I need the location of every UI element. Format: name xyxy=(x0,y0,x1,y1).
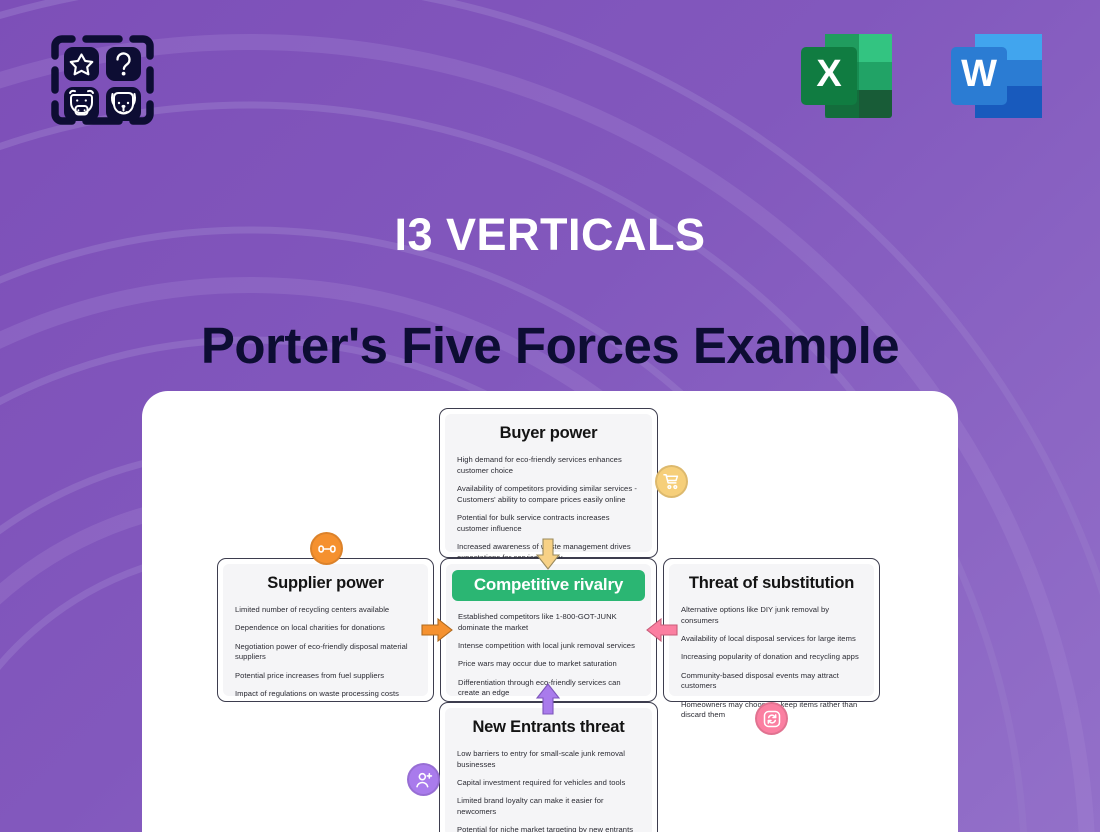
force-items-supplier: Limited number of recycling centers avai… xyxy=(235,605,416,700)
force-title-supplier: Supplier power xyxy=(235,574,416,593)
handshake-badge[interactable] xyxy=(310,532,343,565)
force-box-supplier-power[interactable]: Supplier power Limited number of recycli… xyxy=(217,558,434,702)
handshake-icon xyxy=(317,539,337,559)
add-user-badge[interactable] xyxy=(407,763,440,796)
force-items-entrants: Low barriers to entry for small-scale ju… xyxy=(457,749,640,832)
force-title-buyer: Buyer power xyxy=(457,424,640,443)
list-item: Limited brand loyalty can make it easier… xyxy=(457,796,640,818)
list-item: Price wars may occur due to market satur… xyxy=(458,659,639,670)
list-item: Limited number of recycling centers avai… xyxy=(235,605,416,616)
list-item: Community-based disposal events may attr… xyxy=(681,671,862,693)
list-item: Intense competition with local junk remo… xyxy=(458,641,639,652)
list-item: Dependence on local charities for donati… xyxy=(235,623,416,634)
diagram-card: Buyer power High demand for eco-friendly… xyxy=(142,391,958,832)
list-item: Established competitors like 1-800-GOT-J… xyxy=(458,612,639,634)
word-letter: W xyxy=(961,53,997,95)
refresh-sync-icon xyxy=(762,709,782,729)
list-item: Low barriers to entry for small-scale ju… xyxy=(457,749,640,771)
porters-five-forces-diagram: Buyer power High demand for eco-friendly… xyxy=(142,391,958,832)
list-item: Impact of regulations on waste processin… xyxy=(235,689,416,700)
force-box-threat-of-substitution[interactable]: Threat of substitution Alternative optio… xyxy=(663,558,880,702)
add-user-icon xyxy=(414,770,434,790)
list-item: High demand for eco-friendly services en… xyxy=(457,455,640,477)
recycle-badge[interactable] xyxy=(755,702,788,735)
arrow-supplier-to-rivalry xyxy=(421,615,454,645)
list-item: Availability of competitors providing si… xyxy=(457,484,640,506)
list-item: Negotiation power of eco-friendly dispos… xyxy=(235,642,416,664)
force-title-entrants: New Entrants threat xyxy=(457,718,640,737)
excel-letter: X xyxy=(816,53,842,95)
word-icon[interactable]: W xyxy=(946,28,1048,124)
force-box-buyer-power[interactable]: Buyer power High demand for eco-friendly… xyxy=(439,408,658,558)
brand-title: I3 VERTICALS xyxy=(0,212,1100,257)
app-logo xyxy=(46,30,159,130)
list-item: Potential price increases from fuel supp… xyxy=(235,671,416,682)
excel-icon[interactable]: X xyxy=(796,28,898,124)
list-item: Potential for bulk service contracts inc… xyxy=(457,513,640,535)
arrow-substitution-to-rivalry xyxy=(645,615,678,645)
list-item: Alternative options like DIY junk remova… xyxy=(681,605,862,627)
force-title-substitution: Threat of substitution xyxy=(681,574,862,593)
force-title-rivalry: Competitive rivalry xyxy=(452,570,645,601)
list-item: Availability of local disposal services … xyxy=(681,634,862,645)
list-item: Capital investment required for vehicles… xyxy=(457,778,640,789)
cart-badge[interactable] xyxy=(655,465,688,498)
page-title: Porter's Five Forces Example xyxy=(0,315,1100,376)
export-format-icons: X W xyxy=(796,28,1048,124)
force-box-competitive-rivalry[interactable]: Competitive rivalry Established competit… xyxy=(440,558,657,702)
shopping-cart-icon xyxy=(662,472,681,491)
arrow-entrants-to-rivalry xyxy=(533,682,563,715)
arrow-buyer-to-rivalry xyxy=(533,538,563,571)
list-item: Increasing popularity of donation and re… xyxy=(681,652,862,663)
list-item: Potential for niche market targeting by … xyxy=(457,825,640,832)
force-box-new-entrants-threat[interactable]: New Entrants threat Low barriers to entr… xyxy=(439,702,658,832)
